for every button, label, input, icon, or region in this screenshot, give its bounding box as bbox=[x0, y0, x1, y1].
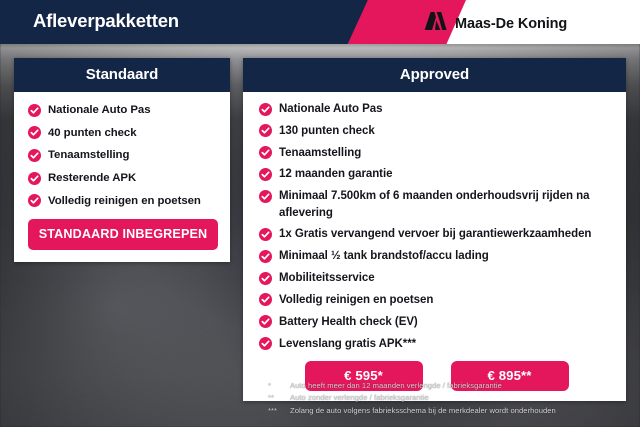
card-title: Approved bbox=[249, 66, 620, 83]
feature-label: Levenslang gratis APK*** bbox=[279, 336, 416, 352]
footnote-marker: * bbox=[268, 380, 290, 392]
feature-label: Tenaamstelling bbox=[279, 145, 361, 161]
footnotes-block: * Auto heeft meer dan 12 maanden verleng… bbox=[268, 380, 628, 417]
list-item: Minimaal ½ tank brandstof/accu lading bbox=[259, 248, 614, 264]
feature-label: Battery Health check (EV) bbox=[279, 314, 418, 330]
card-title: Standaard bbox=[20, 66, 224, 83]
footnote-row: *** Zolang de auto volgens fabrieksschem… bbox=[268, 405, 628, 417]
check-circle-icon bbox=[259, 337, 272, 350]
check-circle-icon bbox=[28, 126, 41, 139]
list-item: Nationale Auto Pas bbox=[28, 102, 218, 118]
feature-label: Volledig reinigen en poetsen bbox=[48, 193, 201, 209]
brand-name: Maas-De Koning bbox=[455, 16, 567, 32]
promo-graphic: Afleverpakketten Maas-De Koning Standaar… bbox=[0, 0, 640, 427]
list-item: 12 maanden garantie bbox=[259, 166, 614, 182]
header-bar: Afleverpakketten Maas-De Koning bbox=[0, 0, 640, 44]
card-header-standaard: Standaard bbox=[14, 58, 230, 92]
check-circle-icon bbox=[259, 190, 272, 203]
standaard-inbegrepen-button[interactable]: STANDAARD INBEGREPEN bbox=[28, 219, 218, 250]
list-item: Battery Health check (EV) bbox=[259, 314, 614, 330]
feature-label: Minimaal ½ tank brandstof/accu lading bbox=[279, 248, 489, 264]
feature-label: Volledig reinigen en poetsen bbox=[279, 292, 433, 308]
check-circle-icon bbox=[28, 149, 41, 162]
package-card-standaard: Standaard Nationale Auto Pas bbox=[14, 58, 230, 262]
footnote-marker: ** bbox=[268, 392, 290, 404]
card-header-approved: Approved bbox=[243, 58, 626, 92]
package-card-approved: Approved Nationale Auto Pas bbox=[243, 58, 626, 401]
list-item: 1x Gratis vervangend vervoer bij garanti… bbox=[259, 226, 614, 242]
footnote-text: Auto zonder verlengde / fabrieksgarantie bbox=[290, 392, 628, 404]
page-title: Afleverpakketten bbox=[33, 10, 179, 32]
check-circle-icon bbox=[28, 104, 41, 117]
check-circle-icon bbox=[259, 124, 272, 137]
list-item: Mobiliteitsservice bbox=[259, 270, 614, 286]
maas-de-koning-logo-icon bbox=[423, 11, 447, 36]
check-circle-icon bbox=[259, 103, 272, 116]
list-item: Tenaamstelling bbox=[259, 145, 614, 161]
list-item: Volledig reinigen en poetsen bbox=[259, 292, 614, 308]
check-circle-icon bbox=[259, 168, 272, 181]
list-item: 40 punten check bbox=[28, 125, 218, 141]
list-item: Nationale Auto Pas bbox=[259, 101, 614, 117]
check-circle-icon bbox=[259, 293, 272, 306]
card-body-approved: Nationale Auto Pas 130 punten check bbox=[243, 92, 626, 401]
list-item: Tenaamstelling bbox=[28, 147, 218, 163]
card-body-standaard: Nationale Auto Pas 40 punten check bbox=[14, 92, 230, 262]
header-shadow bbox=[0, 44, 640, 48]
feature-list-approved: Nationale Auto Pas 130 punten check bbox=[259, 101, 614, 352]
feature-label: 130 punten check bbox=[279, 123, 375, 139]
check-circle-icon bbox=[259, 272, 272, 285]
feature-label: 1x Gratis vervangend vervoer bij garanti… bbox=[279, 226, 591, 242]
footnote-row: ** Auto zonder verlengde / fabrieksgaran… bbox=[268, 392, 628, 404]
feature-label: 12 maanden garantie bbox=[279, 166, 392, 182]
check-circle-icon bbox=[28, 194, 41, 207]
check-circle-icon bbox=[259, 228, 272, 241]
list-item: Resterende APK bbox=[28, 170, 218, 186]
footnote-marker: *** bbox=[268, 405, 290, 417]
list-item: Levenslang gratis APK*** bbox=[259, 336, 614, 352]
feature-label: Nationale Auto Pas bbox=[279, 101, 382, 117]
brand-lockup: Maas-De Koning bbox=[423, 11, 567, 36]
check-circle-icon bbox=[259, 250, 272, 263]
feature-label: Tenaamstelling bbox=[48, 147, 129, 163]
feature-label: 40 punten check bbox=[48, 125, 137, 141]
feature-label: Minimaal 7.500km of 6 maanden onderhouds… bbox=[279, 188, 614, 221]
check-circle-icon bbox=[28, 172, 41, 185]
footnote-row: * Auto heeft meer dan 12 maanden verleng… bbox=[268, 380, 628, 392]
footnote-text: Auto heeft meer dan 12 maanden verlengde… bbox=[290, 380, 628, 392]
feature-list-standaard: Nationale Auto Pas 40 punten check bbox=[28, 102, 218, 209]
check-circle-icon bbox=[259, 315, 272, 328]
feature-label: Resterende APK bbox=[48, 170, 136, 186]
footnote-text: Zolang de auto volgens fabrieksschema bi… bbox=[290, 405, 628, 417]
feature-label: Mobiliteitsservice bbox=[279, 270, 375, 286]
check-circle-icon bbox=[259, 146, 272, 159]
list-item: Volledig reinigen en poetsen bbox=[28, 193, 218, 209]
list-item: Minimaal 7.500km of 6 maanden onderhouds… bbox=[259, 188, 614, 221]
feature-label: Nationale Auto Pas bbox=[48, 102, 150, 118]
list-item: 130 punten check bbox=[259, 123, 614, 139]
